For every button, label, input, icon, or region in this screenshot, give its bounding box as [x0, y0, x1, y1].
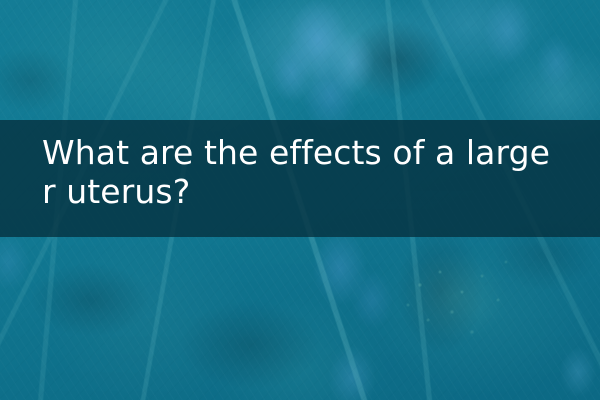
caption-headline: What are the effects of a large r uterus… — [42, 133, 574, 211]
image-card: What are the effects of a large r uterus… — [0, 0, 600, 400]
